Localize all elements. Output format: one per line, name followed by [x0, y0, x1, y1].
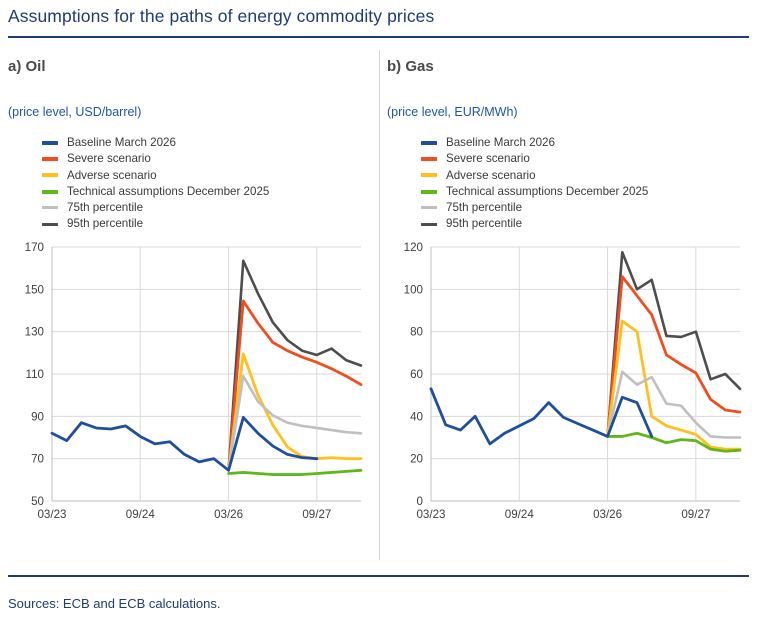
legend-item-technical: Technical assumptions December 2025 — [421, 184, 751, 200]
panel-gas-title: b) Gas — [387, 58, 434, 75]
y-axis-tick-label: 170 — [25, 241, 44, 254]
legend-swatch-adverse-icon — [42, 173, 58, 177]
legend-item-adverse: Adverse scenario — [421, 167, 751, 183]
x-axis-tick-label: 09/24 — [505, 508, 535, 521]
y-axis-tick-label: 70 — [31, 453, 44, 466]
legend-item-p95: 95th percentile — [421, 216, 751, 232]
source-note: Sources: ECB and ECB calculations. — [8, 596, 220, 611]
legend-swatch-adverse-icon — [421, 173, 437, 177]
y-axis-tick-label: 120 — [404, 241, 423, 254]
x-axis-tick-label: 03/23 — [37, 508, 66, 521]
legend-label-technical: Technical assumptions December 2025 — [446, 186, 648, 198]
legend-swatch-baseline-icon — [421, 141, 437, 145]
legend-label-baseline: Baseline March 2026 — [446, 137, 555, 149]
legend-label-adverse: Adverse scenario — [446, 170, 536, 182]
series-line-adverse — [229, 354, 361, 470]
legend-item-p95: 95th percentile — [42, 216, 372, 232]
y-axis-tick-label: 60 — [410, 368, 423, 381]
y-axis-tick-label: 0 — [417, 495, 423, 508]
legend-item-p75: 75th percentile — [421, 200, 751, 216]
y-axis-tick-label: 40 — [410, 410, 423, 423]
y-axis-tick-label: 100 — [404, 283, 423, 296]
legend-label-baseline: Baseline March 2026 — [67, 137, 176, 149]
x-axis-tick-label: 09/27 — [681, 508, 710, 521]
panel-gas: b) Gas (price level, EUR/MWh) Baseline M… — [379, 44, 757, 564]
legend-item-adverse: Adverse scenario — [42, 167, 372, 183]
series-line-technical — [229, 470, 361, 474]
legend-item-technical: Technical assumptions December 2025 — [42, 184, 372, 200]
legend-item-severe: Severe scenario — [42, 151, 372, 167]
panel-oil-units: (price level, USD/barrel) — [8, 105, 141, 119]
legend-label-p95: 95th percentile — [67, 218, 143, 230]
series-line-p95 — [608, 252, 740, 436]
y-axis-tick-label: 130 — [25, 326, 44, 339]
plot-oil: 50709011013015017003/2309/2403/2609/27 — [0, 239, 379, 539]
source-divider-rule — [8, 575, 749, 577]
legend-swatch-severe-icon — [42, 157, 58, 161]
figure-root: Assumptions for the paths of energy comm… — [0, 0, 757, 618]
chart-svg: 50709011013015017003/2309/2403/2609/27 — [0, 239, 379, 539]
plot-gas: 02040608010012003/2309/2403/2609/27 — [379, 239, 757, 539]
figure-title: Assumptions for the paths of energy comm… — [8, 6, 434, 27]
y-axis-tick-label: 80 — [410, 326, 423, 339]
panel-gas-units: (price level, EUR/MWh) — [387, 105, 518, 119]
x-axis-tick-label: 03/23 — [416, 508, 445, 521]
legend-swatch-p95-icon — [421, 223, 437, 226]
legend-label-severe: Severe scenario — [446, 153, 530, 165]
x-axis-tick-label: 03/26 — [214, 508, 243, 521]
y-axis-tick-label: 110 — [26, 368, 44, 381]
legend-swatch-p75-icon — [42, 206, 58, 209]
title-divider-rule — [8, 36, 749, 38]
legend-swatch-technical-icon — [42, 190, 58, 194]
x-axis-tick-label: 09/27 — [302, 508, 331, 521]
panel-oil: a) Oil (price level, USD/barrel) Baselin… — [0, 44, 379, 564]
chart-svg: 02040608010012003/2309/2403/2609/27 — [379, 239, 757, 539]
legend-label-severe: Severe scenario — [67, 153, 151, 165]
legend-swatch-p75-icon — [421, 206, 437, 209]
legend-label-p75: 75th percentile — [67, 202, 143, 214]
legend-swatch-p95-icon — [42, 223, 58, 226]
legend-label-adverse: Adverse scenario — [67, 170, 157, 182]
series-line-baseline — [52, 417, 317, 470]
legend-oil: Baseline March 2026Severe scenarioAdvers… — [42, 135, 372, 232]
legend-swatch-technical-icon — [421, 190, 437, 194]
legend-label-technical: Technical assumptions December 2025 — [67, 186, 269, 198]
series-line-severe — [608, 277, 740, 437]
series-line-adverse — [608, 321, 740, 449]
legend-item-baseline: Baseline March 2026 — [42, 135, 372, 151]
legend-gas: Baseline March 2026Severe scenarioAdvers… — [421, 135, 751, 232]
legend-swatch-baseline-icon — [42, 141, 58, 145]
legend-swatch-severe-icon — [421, 157, 437, 161]
y-axis-tick-label: 150 — [25, 283, 44, 296]
y-axis-tick-label: 20 — [410, 453, 423, 466]
y-axis-tick-label: 90 — [31, 410, 44, 423]
panel-oil-title: a) Oil — [8, 58, 46, 75]
x-axis-tick-label: 03/26 — [593, 508, 622, 521]
legend-item-p75: 75th percentile — [42, 200, 372, 216]
y-axis-tick-label: 50 — [31, 495, 44, 508]
legend-item-severe: Severe scenario — [421, 151, 751, 167]
legend-label-p95: 95th percentile — [446, 218, 522, 230]
legend-item-baseline: Baseline March 2026 — [421, 135, 751, 151]
x-axis-tick-label: 09/24 — [126, 508, 156, 521]
legend-label-p75: 75th percentile — [446, 202, 522, 214]
